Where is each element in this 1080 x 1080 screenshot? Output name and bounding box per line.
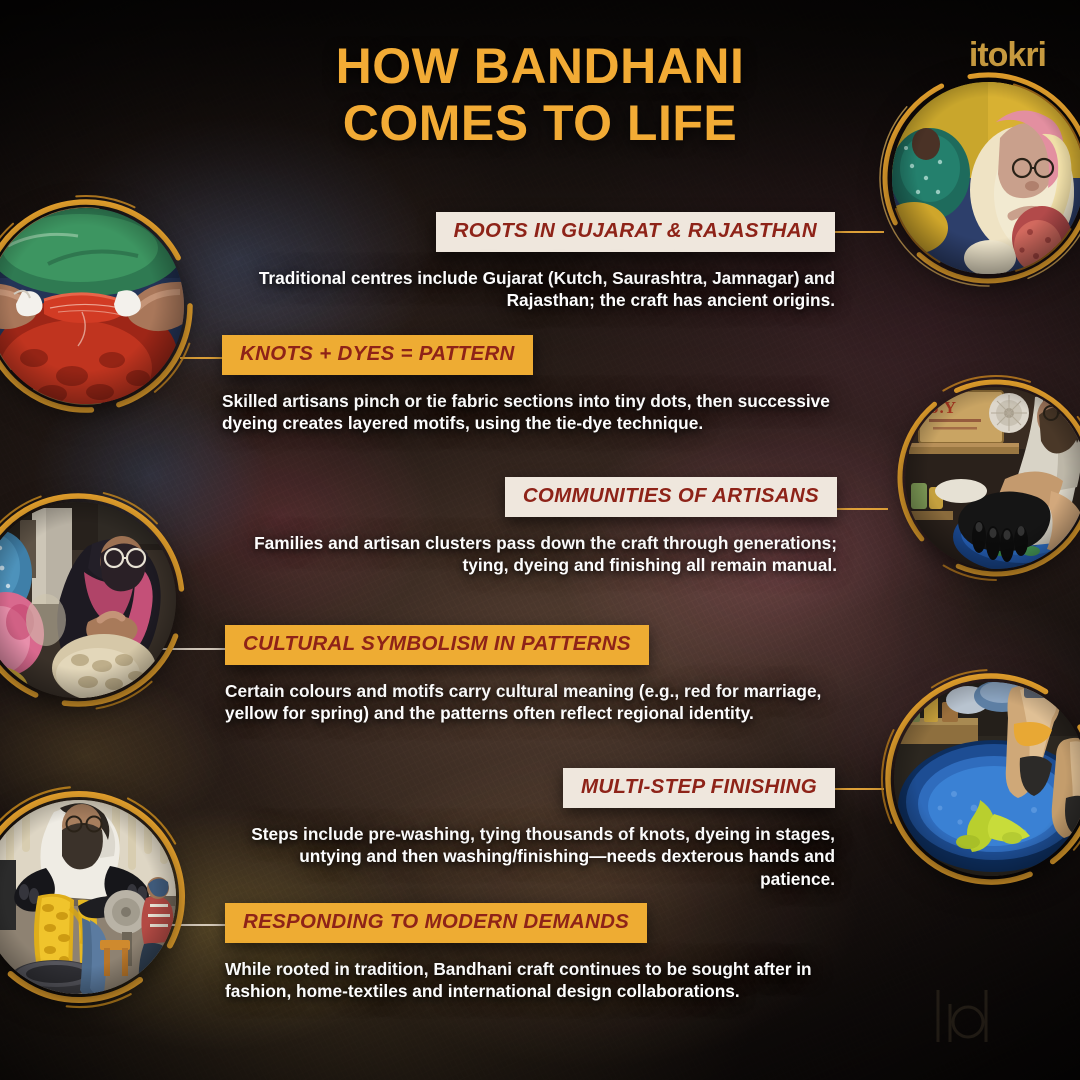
section-3-body: Families and artisan clusters pass down … bbox=[212, 532, 837, 578]
photo-artisan-lifting-yellow-fabric bbox=[0, 790, 186, 1004]
photo-hands-tying-red-fabric bbox=[0, 198, 194, 414]
connector-line-3 bbox=[834, 508, 888, 510]
section-5: MULTI-STEP FINISHING Steps include pre-w… bbox=[235, 768, 835, 891]
section-5-heading: MULTI-STEP FINISHING bbox=[563, 768, 835, 808]
section-1-body: Traditional centres include Gujarat (Kut… bbox=[235, 267, 835, 313]
photo-disc: J.Y bbox=[905, 387, 1080, 569]
section-4: CULTURAL SYMBOLISM IN PATTERNS Certain c… bbox=[225, 625, 825, 725]
photo-blue-dye-vat-bundles bbox=[884, 672, 1080, 886]
section-3-heading: COMMUNITIES OF ARTISANS bbox=[505, 477, 837, 517]
photo-dyer-at-blue-tub: J.Y bbox=[896, 378, 1080, 578]
photo-disc bbox=[894, 682, 1080, 876]
photo-two-women-tying-knots bbox=[882, 72, 1080, 284]
photo-disc bbox=[892, 82, 1080, 274]
photo-woman-untying-bundle bbox=[0, 492, 186, 708]
section-3: COMMUNITIES OF ARTISANS Families and art… bbox=[212, 477, 837, 577]
section-6: RESPONDING TO MODERN DEMANDS While roote… bbox=[225, 903, 825, 1003]
section-4-body: Certain colours and motifs carry cultura… bbox=[225, 680, 825, 726]
section-2-heading: KNOTS + DYES = PATTERN bbox=[222, 335, 533, 375]
section-6-body: While rooted in tradition, Bandhani craf… bbox=[225, 958, 825, 1004]
section-1-heading: ROOTS IN GUJARAT & RAJASTHAN bbox=[436, 212, 835, 252]
section-2-body: Skilled artisans pinch or tie fabric sec… bbox=[222, 390, 837, 436]
section-2: KNOTS + DYES = PATTERN Skilled artisans … bbox=[222, 335, 837, 435]
connector-line-1 bbox=[832, 231, 884, 233]
infographic-poster: itokri HOW BANDHANI COMES TO LIFE bbox=[0, 0, 1080, 1080]
logo-watermark-icon bbox=[928, 982, 1002, 1052]
section-4-heading: CULTURAL SYMBOLISM IN PATTERNS bbox=[225, 625, 649, 665]
section-1: ROOTS IN GUJARAT & RAJASTHAN Traditional… bbox=[235, 212, 835, 312]
connector-line-5 bbox=[834, 788, 884, 790]
section-5-body: Steps include pre-washing, tying thousan… bbox=[235, 823, 835, 891]
section-6-heading: RESPONDING TO MODERN DEMANDS bbox=[225, 903, 647, 943]
